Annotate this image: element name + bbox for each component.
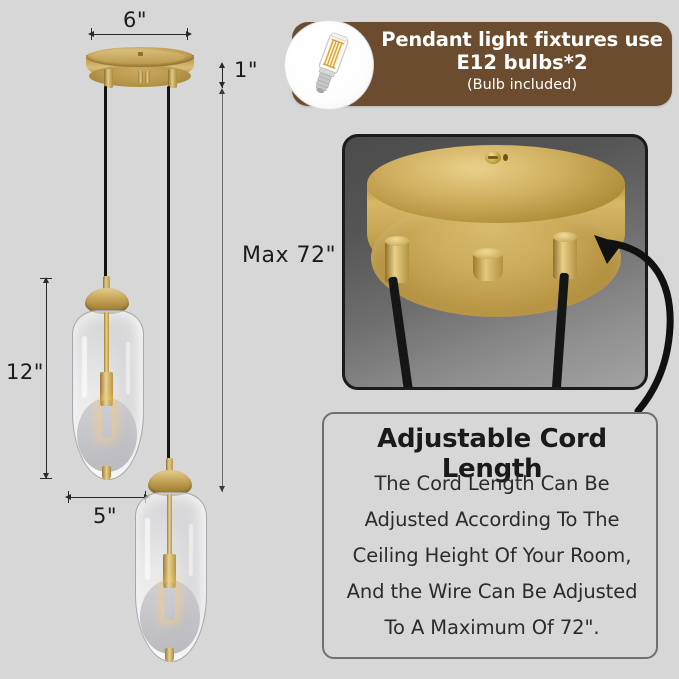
dimension-line-shade-height	[46, 280, 47, 478]
badge-line-3: (Bulb included)	[378, 75, 666, 95]
badge-line-2: E12 bulbs*2	[378, 51, 666, 74]
dimension-tick	[40, 478, 52, 479]
e12-tube-bulb-icon	[285, 21, 373, 109]
product-infographic: 6" 1" Max 72"	[0, 0, 679, 679]
canopy-plate	[86, 47, 194, 89]
dimension-label-canopy-height: 1"	[234, 58, 258, 82]
callout-curved-arrow-icon	[560, 215, 679, 415]
canopy-screw-icon	[138, 52, 143, 56]
card-body-line: To A Maximum Of 72".	[332, 610, 652, 646]
card-body-line: Ceiling Height Of Your Room,	[332, 538, 652, 574]
dimension-label-shade-width: 5"	[93, 504, 117, 528]
card-body-line: Adjusted According To The	[332, 502, 652, 538]
cord-left	[104, 86, 107, 282]
glass-tip	[102, 466, 111, 480]
canopy-photo-center-knob	[473, 253, 503, 281]
glass-highlight	[126, 342, 130, 394]
bulb-filament	[164, 582, 175, 620]
card-body-line: The Cord Length Can Be	[332, 466, 652, 502]
glass-tip	[165, 648, 174, 662]
pendant-shade-lower	[123, 458, 223, 670]
dimension-tick	[187, 28, 188, 40]
glass-highlight	[145, 518, 150, 580]
card-body-line: And the Wire Can Be Adjusted	[332, 574, 652, 610]
dimension-label-shade-height: 12"	[6, 360, 44, 384]
bulb-stem	[104, 312, 109, 374]
arrow-up-icon	[219, 62, 225, 68]
dimension-tick	[40, 278, 52, 279]
glass-highlight	[189, 524, 193, 576]
dimension-label-max-drop: Max 72"	[242, 243, 336, 268]
adjustable-cord-length-card: Adjustable Cord Length The Cord Length C…	[322, 412, 658, 659]
arrow-up-icon	[219, 88, 225, 94]
canopy-center-post	[145, 71, 150, 83]
canopy-photo-screw-icon	[485, 151, 501, 164]
card-body: The Cord Length Can Be Adjusted Accordin…	[332, 466, 652, 646]
pendant-shade-upper	[60, 276, 160, 486]
dimension-line-max-drop	[222, 90, 223, 492]
badge-text-block: Pendant light fixtures use E12 bulbs*2 (…	[378, 28, 666, 95]
bulb-stem	[167, 494, 172, 556]
e12-bulb-badge: Pendant light fixtures use E12 bulbs*2 (…	[292, 22, 672, 106]
pendant-dimension-drawing: 6" 1" Max 72"	[0, 0, 340, 679]
badge-line-1: Pendant light fixtures use	[378, 28, 666, 51]
bulb-filament	[101, 400, 112, 438]
dimension-label-canopy-width: 6"	[123, 8, 147, 32]
canopy-photo-hole	[503, 154, 508, 161]
dimension-line-canopy-width	[91, 34, 188, 35]
glass-highlight	[82, 336, 87, 398]
bulb-photo-circle	[284, 20, 374, 110]
cord-right	[167, 86, 170, 464]
dimension-tick	[91, 28, 92, 40]
canopy-photo-cord-outlet-left	[385, 241, 409, 283]
canopy-center-post	[138, 71, 143, 83]
dimension-tick	[68, 491, 69, 503]
cord-outlet-right	[168, 69, 177, 88]
